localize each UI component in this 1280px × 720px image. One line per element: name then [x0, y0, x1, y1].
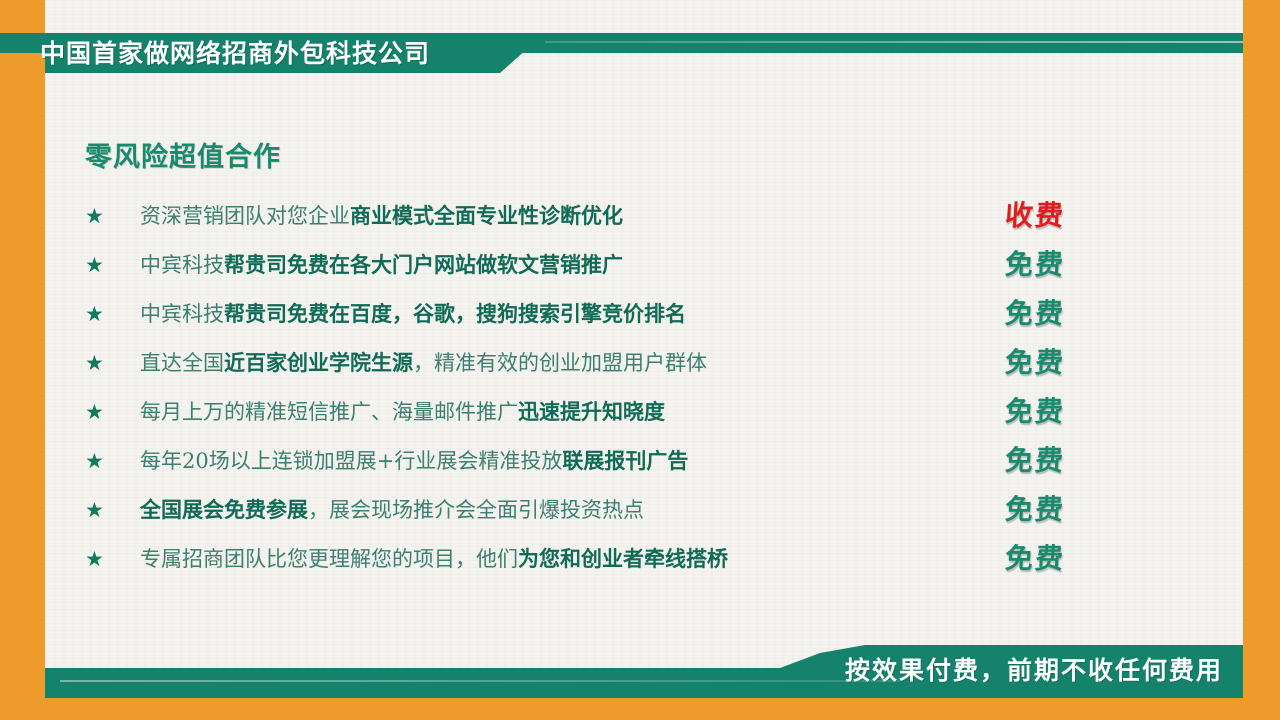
list-item-text-emphasis: 全国展会免费参展 [140, 497, 308, 522]
list-item-text-emphasis: 近百家创业学院生源 [224, 350, 413, 375]
benefits-list: ★资深营销团队对您企业商业模式全面专业性诊断优化收费★中宾科技帮贵司免费在各大门… [85, 198, 1185, 590]
list-item-text-normal-before: 中宾科技 [140, 253, 224, 277]
header-title: 中国首家做网络招商外包科技公司 [40, 36, 500, 72]
star-icon: ★ [85, 254, 104, 278]
star-icon: ★ [85, 548, 104, 572]
star-icon: ★ [85, 499, 104, 523]
price-badge: 免费 [954, 490, 1117, 530]
list-item: ★每年20场以上连锁加盟展+行业展会精准投放联展报刊广告免费 [85, 443, 1185, 492]
list-item-text-normal-after: ，精准有效的创业加盟用户群体 [413, 351, 707, 375]
list-item: ★直达全国近百家创业学院生源，精准有效的创业加盟用户群体免费 [85, 345, 1185, 394]
footer-tagline: 按效果付费，前期不收任何费用 [845, 650, 1245, 692]
footer-hairline [60, 680, 900, 682]
list-item: ★全国展会免费参展，展会现场推介会全面引爆投资热点免费 [85, 492, 1185, 541]
list-item-text: 每月上万的精准短信推广、海量邮件推广迅速提升知晓度 [140, 397, 665, 427]
list-item-text-emphasis: 为您和创业者牵线搭桥 [518, 546, 728, 571]
price-badge: 收费 [954, 196, 1117, 236]
list-item-text-normal-before: 中宾科技 [140, 302, 224, 326]
list-item-text: 资深营销团队对您企业商业模式全面专业性诊断优化 [140, 201, 623, 231]
page-title: 零风险超值合作 [85, 135, 281, 174]
list-item-text: 直达全国近百家创业学院生源，精准有效的创业加盟用户群体 [140, 348, 707, 378]
list-item: ★专属招商团队比您更理解您的项目，他们为您和创业者牵线搭桥免费 [85, 541, 1185, 590]
list-item-text-normal-after: ，展会现场推介会全面引爆投资热点 [308, 498, 644, 522]
star-icon: ★ [85, 205, 104, 229]
header-hairline [545, 41, 1243, 43]
list-item-text-normal-before: 专属招商团队比您更理解您的项目，他们 [140, 547, 518, 571]
price-badge: 免费 [954, 245, 1117, 285]
bottom-edge [0, 698, 1280, 720]
price-badge: 免费 [954, 441, 1117, 481]
list-item-text: 每年20场以上连锁加盟展+行业展会精准投放联展报刊广告 [140, 446, 688, 476]
list-item: ★中宾科技帮贵司免费在百度，谷歌，搜狗搜索引擎竞价排名免费 [85, 296, 1185, 345]
list-item-text-emphasis: 迅速提升知晓度 [518, 399, 665, 424]
list-item-text-normal-before: 每年20场以上连锁加盟展+行业展会精准投放 [140, 449, 562, 473]
list-item-text-emphasis: 帮贵司免费在百度，谷歌，搜狗搜索引擎竞价排名 [224, 301, 686, 326]
price-badge: 免费 [954, 539, 1117, 579]
header-right-edge-mask [1243, 0, 1280, 100]
list-item: ★每月上万的精准短信推广、海量邮件推广迅速提升知晓度免费 [85, 394, 1185, 443]
list-item-text-emphasis: 联展报刊广告 [562, 448, 688, 473]
list-item-text-emphasis: 帮贵司免费在各大门户网站做软文营销推广 [224, 252, 623, 277]
price-badge: 免费 [954, 392, 1117, 432]
list-item-text-emphasis: 商业模式全面专业性诊断优化 [350, 203, 623, 228]
price-badge: 免费 [954, 343, 1117, 383]
star-icon: ★ [85, 352, 104, 376]
list-item-text-normal-before: 资深营销团队对您企业 [140, 204, 350, 228]
list-item-text: 全国展会免费参展，展会现场推介会全面引爆投资热点 [140, 495, 644, 525]
list-item-text-normal-before: 直达全国 [140, 351, 224, 375]
list-item-text: 中宾科技帮贵司免费在各大门户网站做软文营销推广 [140, 250, 623, 280]
star-icon: ★ [85, 303, 104, 327]
list-item-text: 专属招商团队比您更理解您的项目，他们为您和创业者牵线搭桥 [140, 544, 728, 574]
star-icon: ★ [85, 401, 104, 425]
star-icon: ★ [85, 450, 104, 474]
list-item: ★资深营销团队对您企业商业模式全面专业性诊断优化收费 [85, 198, 1185, 247]
list-item: ★中宾科技帮贵司免费在各大门户网站做软文营销推广免费 [85, 247, 1185, 296]
list-item-text-normal-before: 每月上万的精准短信推广、海量邮件推广 [140, 400, 518, 424]
list-item-text: 中宾科技帮贵司免费在百度，谷歌，搜狗搜索引擎竞价排名 [140, 299, 686, 329]
price-badge: 免费 [954, 294, 1117, 334]
slide-root: 中国首家做网络招商外包科技公司 零风险超值合作 ★资深营销团队对您企业商业模式全… [0, 0, 1280, 720]
